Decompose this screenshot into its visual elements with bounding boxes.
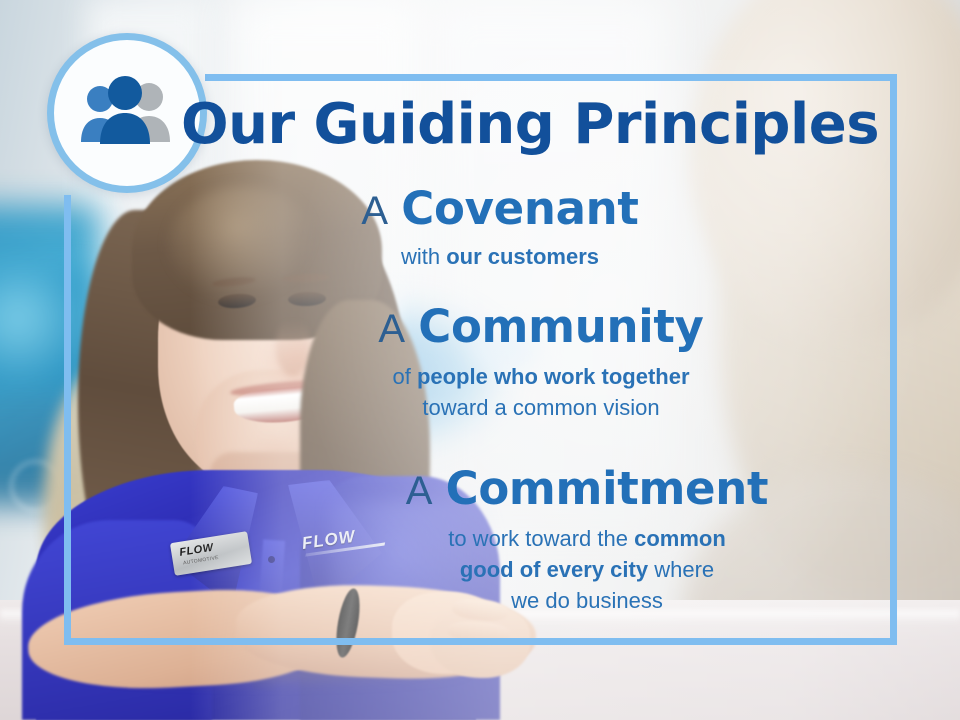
subtext-run: with — [401, 244, 446, 269]
subtext-run: of — [392, 364, 416, 389]
principle-commitment: A Commitment to work toward the commongo… — [0, 462, 960, 616]
subtext-run: toward a common vision — [422, 395, 659, 420]
subtext-emphasis: good of every city — [460, 557, 648, 582]
principle-community: A Community of people who work togethert… — [0, 300, 960, 423]
principle-subtext: with our customers — [40, 241, 960, 272]
subtext-emphasis: our customers — [446, 244, 599, 269]
principle-article: A — [361, 189, 389, 233]
subtext-run: we do business — [511, 588, 663, 613]
subtext-line: of people who work together — [122, 361, 960, 392]
principle-keyword: Covenant — [401, 182, 638, 235]
subtext-emphasis: people who work together — [417, 364, 690, 389]
subtext-line: good of every city where — [214, 554, 960, 585]
subtext-line: to work toward the common — [214, 523, 960, 554]
principle-heading: A Covenant — [40, 182, 960, 235]
principle-article: A — [406, 469, 434, 513]
guiding-principles-graphic: FLOW AUTOMOTIVE FLOW — [0, 0, 960, 720]
principle-subtext: to work toward the commongood of every c… — [214, 523, 960, 616]
principle-keyword: Community — [418, 300, 703, 353]
subtext-line: toward a common vision — [122, 392, 960, 423]
page-title: Our Guiding Principles — [0, 92, 960, 157]
principle-article: A — [378, 307, 406, 351]
principle-keyword: Commitment — [446, 462, 769, 515]
subtext-line: we do business — [214, 585, 960, 616]
principle-heading: A Community — [122, 300, 960, 353]
subtext-emphasis: common — [634, 526, 726, 551]
principle-covenant: A Covenant with our customers — [0, 182, 960, 272]
subtext-run: to work toward the — [448, 526, 634, 551]
subtext-line: with our customers — [40, 241, 960, 272]
subtext-run: where — [648, 557, 714, 582]
principle-subtext: of people who work togethertoward a comm… — [122, 361, 960, 423]
principle-heading: A Commitment — [214, 462, 960, 515]
